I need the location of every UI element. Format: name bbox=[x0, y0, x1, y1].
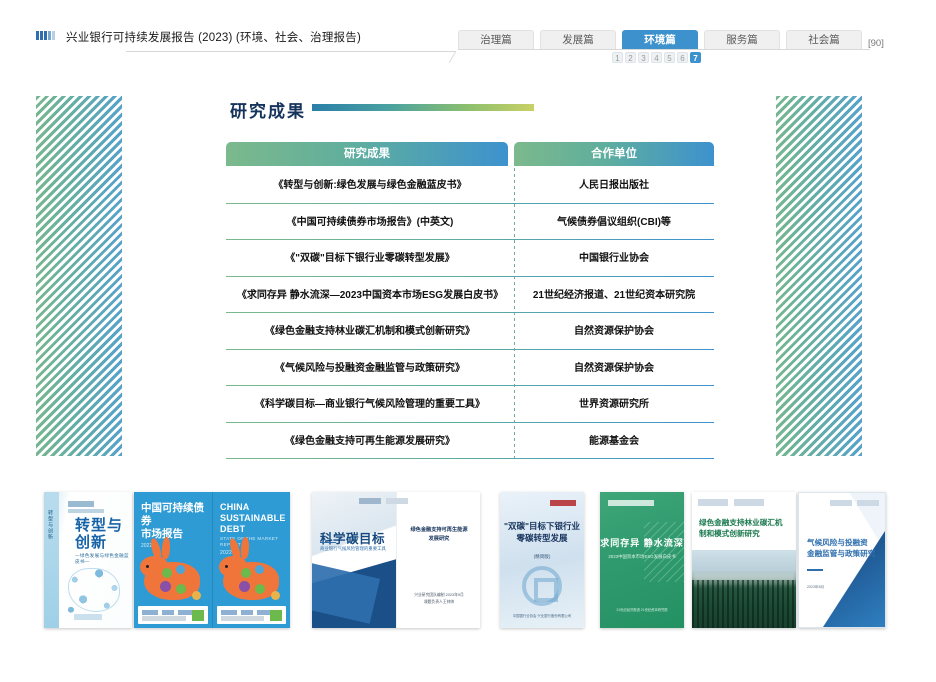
publication-covers-strip: 转型与创新 转型与创新 —绿色发展与绿色金融蓝皮书— 中国可持续债券 市场报告 … bbox=[0, 492, 936, 640]
publisher-sublogo-icon bbox=[68, 509, 104, 513]
tab-society[interactable]: 社会篇 bbox=[786, 30, 862, 49]
cover-title: 转型与创新 bbox=[75, 518, 132, 552]
publisher-logos-icon bbox=[359, 498, 408, 504]
cell-achievement: 《转型与创新:绿色发展与绿色金融蓝皮书》 bbox=[226, 179, 514, 192]
cell-partner: 世界资源研究所 bbox=[514, 398, 714, 411]
report-title: 兴业银行可持续发展报告 (2023) (环境、社会、治理报告) bbox=[66, 29, 361, 45]
cover-footer: 21世纪经济报道 21世纪资本研究院 bbox=[600, 607, 684, 614]
pagination-page-5[interactable]: 5 bbox=[664, 52, 675, 63]
pagination[interactable]: 1 2 3 4 5 6 7 bbox=[612, 52, 701, 63]
decorative-hatch-right bbox=[776, 96, 862, 456]
cover-page-right: CHINA SUSTAINABLE DEBT STATE OF THE MARK… bbox=[212, 492, 290, 628]
cell-partner: 21世纪经济报道、21世纪资本研究院 bbox=[514, 289, 714, 302]
pagination-page-4[interactable]: 4 bbox=[651, 52, 662, 63]
table-row: 《科学碳目标—商业银行气候风险管理的重要工具》 世界资源研究所 bbox=[226, 387, 714, 424]
cover-title: 科学碳目标 bbox=[320, 528, 385, 547]
cover-page-left bbox=[312, 492, 396, 628]
cover-page-right bbox=[396, 492, 480, 628]
research-results-table: 研究成果 合作单位 《转型与创新:绿色发展与绿色金融蓝皮书》 人民日报出版社 《… bbox=[226, 142, 714, 460]
table-row: 《绿色金融支持可再生能源发展研究》 能源基金会 bbox=[226, 424, 714, 461]
cover-title-line2: 金融监管与政策研究 bbox=[807, 548, 879, 559]
cover-subtitle: 商业银行气候风险管理的重要工具 bbox=[320, 546, 386, 552]
cover-right-footer: 兴业研究团队编制 2023年9月 课题负责人王帅帅 bbox=[414, 592, 464, 606]
table-body: 《转型与创新:绿色发展与绿色金融蓝皮书》 人民日报出版社 《中国可持续债券市场报… bbox=[226, 168, 714, 460]
cover-china-sustainable-debt: 中国可持续债券 市场报告 2022 CHINA SUSTAINABLE DEBT… bbox=[134, 492, 290, 628]
tab-service[interactable]: 服务篇 bbox=[704, 30, 780, 49]
cover-artwork bbox=[62, 564, 126, 616]
section-title-gradient-bar bbox=[312, 104, 534, 111]
tab-environment[interactable]: 环境篇 bbox=[622, 30, 698, 49]
cover-page-left: 中国可持续债券 市场报告 2022 bbox=[134, 492, 212, 628]
cover-footer: 中国银行业协会 兴业银行股份有限公司 bbox=[500, 613, 584, 618]
cover-title-line1: 气候风险与投融资 bbox=[807, 537, 879, 548]
cell-partner: 气候债券倡议组织(CBI)等 bbox=[514, 216, 714, 229]
pagination-page-3[interactable]: 3 bbox=[638, 52, 649, 63]
cell-partner: 中国银行业协会 bbox=[514, 252, 714, 265]
pagination-page-7[interactable]: 7 bbox=[690, 52, 701, 63]
rabbit-illustration bbox=[219, 536, 285, 602]
cover-title: 气候风险与投融资 金融监管与政策研究 bbox=[807, 537, 879, 559]
publisher-logos-icon bbox=[698, 499, 764, 506]
section-title: 研究成果 bbox=[230, 97, 306, 122]
cover-science-based-targets: 科学碳目标 商业银行气候风险管理的重要工具 绿色金融支持可再生能源发展研究 兴业… bbox=[312, 492, 480, 628]
cover-title: 求同存异 静水流深 bbox=[600, 536, 684, 549]
cover-title-en-text: CHINA SUSTAINABLE DEBT bbox=[220, 502, 286, 534]
cover-hatch-decoration bbox=[644, 522, 684, 582]
pagination-page-1[interactable]: 1 bbox=[612, 52, 623, 63]
publisher-logo-icon bbox=[550, 500, 576, 506]
cover-spine-text: 转型与创新 bbox=[47, 510, 54, 540]
table-row: 《转型与创新:绿色发展与绿色金融蓝皮书》 人民日报出版社 bbox=[226, 168, 714, 205]
cell-achievement: 《求同存异 静水流深—2023中国资本市场ESG发展白皮书》 bbox=[226, 289, 514, 302]
cover-title-cn-line1: 中国可持续债券 bbox=[141, 502, 204, 527]
cover-forestry-carbon-sink: 绿色金融支持林业碳汇机制和模式创新研究 bbox=[692, 492, 796, 628]
decorative-hatch-left bbox=[36, 96, 122, 456]
cover-title: 绿色金融支持林业碳汇机制和模式创新研究 bbox=[699, 518, 789, 539]
table-row: 《绿色金融支持林业碳汇机制和模式创新研究》 自然资源保护协会 bbox=[226, 314, 714, 351]
rabbit-illustration bbox=[140, 536, 206, 602]
cover-version: (精简版) bbox=[500, 554, 584, 560]
brand-logo-icon bbox=[36, 31, 55, 40]
header-divider-slant bbox=[449, 51, 468, 63]
cover-sponsor-strip bbox=[138, 606, 208, 624]
cell-achievement: 《绿色金融支持可再生能源发展研究》 bbox=[226, 435, 514, 448]
cell-achievement: 《科学碳目标—商业银行气候风险管理的重要工具》 bbox=[226, 398, 514, 411]
tabs-underline bbox=[458, 49, 870, 50]
cover-footer-mark bbox=[74, 614, 102, 620]
cover-title: "双碳"目标下银行业零碳转型发展 bbox=[500, 520, 584, 545]
cover-emblem-icon bbox=[522, 566, 562, 606]
page-header: 兴业银行可持续发展报告 (2023) (环境、社会、治理报告) 治理篇 发展篇 … bbox=[0, 0, 936, 68]
cover-date: 2023年8月 bbox=[807, 585, 824, 590]
column-header-partner: 合作单位 bbox=[514, 142, 714, 166]
cell-partner: 人民日报出版社 bbox=[514, 179, 714, 192]
cover-transformation-innovation: 转型与创新 转型与创新 —绿色发展与绿色金融蓝皮书— bbox=[44, 492, 132, 628]
table-row: 《中国可持续债券市场报告》(中英文) 气候债券倡议组织(CBI)等 bbox=[226, 205, 714, 242]
cover-rule bbox=[807, 569, 823, 571]
publisher-logo-icon bbox=[68, 501, 94, 507]
page-number: [90] bbox=[868, 38, 884, 49]
cover-climate-risk-investment: 气候风险与投融资 金融监管与政策研究 2023年8月 bbox=[798, 492, 886, 628]
publisher-logo-icon bbox=[608, 500, 654, 506]
cover-subtitle: 2023中国资本市场ESG发展白皮书 bbox=[600, 554, 684, 560]
table-row: 《"双碳"目标下银行业零碳转型发展》 中国银行业协会 bbox=[226, 241, 714, 278]
cell-partner: 能源基金会 bbox=[514, 435, 714, 448]
cover-dual-carbon-zero-transition: "双碳"目标下银行业零碳转型发展 (精简版) 中国银行业协会 兴业银行股份有限公… bbox=[500, 492, 584, 628]
cover-spine: 转型与创新 bbox=[44, 492, 59, 628]
forest-photo bbox=[692, 550, 796, 628]
cell-achievement: 《中国可持续债券市场报告》(中英文) bbox=[226, 216, 514, 229]
pagination-page-6[interactable]: 6 bbox=[677, 52, 688, 63]
tab-development[interactable]: 发展篇 bbox=[540, 30, 616, 49]
cover-right-title: 绿色金融支持可再生能源发展研究 bbox=[410, 526, 468, 545]
cover-sponsor-strip bbox=[217, 606, 286, 624]
table-row: 《气候风险与投融资金融监管与政策研究》 自然资源保护协会 bbox=[226, 351, 714, 388]
publisher-logos-icon bbox=[830, 500, 879, 506]
column-header-achievement: 研究成果 bbox=[226, 142, 508, 166]
tab-governance[interactable]: 治理篇 bbox=[458, 30, 534, 49]
cell-partner: 自然资源保护协会 bbox=[514, 325, 714, 338]
table-row: 《求同存异 静水流深—2023中国资本市场ESG发展白皮书》 21世纪经济报道、… bbox=[226, 278, 714, 315]
table-header-row: 研究成果 合作单位 bbox=[226, 142, 714, 166]
cell-achievement: 《"双碳"目标下银行业零碳转型发展》 bbox=[226, 252, 514, 265]
header-divider bbox=[126, 51, 456, 52]
section-tabs[interactable]: 治理篇 发展篇 环境篇 服务篇 社会篇 bbox=[458, 30, 862, 49]
cell-achievement: 《绿色金融支持林业碳汇机制和模式创新研究》 bbox=[226, 325, 514, 338]
cover-esg-white-paper: 求同存异 静水流深 2023中国资本市场ESG发展白皮书 21世纪经济报道 21… bbox=[600, 492, 684, 628]
pagination-page-2[interactable]: 2 bbox=[625, 52, 636, 63]
cell-achievement: 《气候风险与投融资金融监管与政策研究》 bbox=[226, 362, 514, 375]
cell-partner: 自然资源保护协会 bbox=[514, 362, 714, 375]
